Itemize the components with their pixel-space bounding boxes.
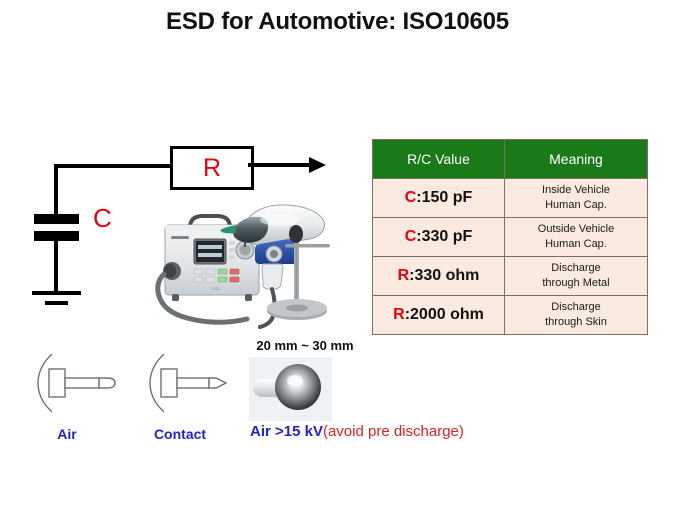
pre-discharge-note: (avoid pre discharge)	[323, 423, 464, 440]
rc-value-table: R/C Value Meaning C:150 pF Inside Vehicl…	[372, 139, 648, 335]
meaning-cell: Inside Vehicle Human Cap.	[505, 179, 648, 218]
meaning-line-1: Inside Vehicle	[505, 183, 647, 198]
meaning-cell: Discharge through Skin	[505, 296, 648, 335]
meaning-line-2: Human Cap.	[505, 237, 647, 252]
rc-value: :150 pF	[416, 189, 472, 206]
rc-value-cell: R:2000 ohm	[373, 296, 505, 335]
wire-top-left	[54, 164, 172, 168]
contact-discharge-label: Contact	[140, 426, 220, 442]
table-row: R:2000 ohm Discharge through Skin	[373, 296, 648, 335]
slide-canvas: ESD for Automotive: ISO10605 C R	[0, 0, 675, 506]
column-header-meaning: Meaning	[505, 140, 648, 179]
contact-discharge-tip	[140, 352, 240, 414]
sphere-dimension-label: 20 mm ~ 30 mm	[240, 338, 370, 353]
table-row: C:150 pF Inside Vehicle Human Cap.	[373, 179, 648, 218]
page-title: ESD for Automotive: ISO10605	[0, 8, 675, 36]
rc-value: :2000 ohm	[405, 306, 484, 323]
rc-value-cell: C:330 pF	[373, 218, 505, 257]
resistor-box: R	[170, 146, 254, 190]
meaning-line-2: through Skin	[505, 315, 647, 330]
meaning-line-2: Human Cap.	[505, 198, 647, 213]
capacitor-plate-top	[34, 214, 79, 224]
svg-text:ESD: ESD	[212, 286, 220, 291]
sphere-tip-photo	[249, 357, 332, 421]
meaning-line-2: through Metal	[505, 276, 647, 291]
meaning-cell: Discharge through Metal	[505, 257, 648, 296]
output-arrow-icon	[309, 157, 326, 173]
ground-bar-narrow	[45, 301, 68, 305]
air-discharge-label: Air	[27, 426, 107, 442]
meaning-cell: Outside Vehicle Human Cap.	[505, 218, 648, 257]
rc-prefix: R	[398, 267, 410, 284]
air-discharge-tip	[28, 352, 128, 414]
capacitor-label: C	[93, 205, 112, 231]
air-voltage-label: Air >15 kV	[250, 423, 323, 440]
meaning-line-1: Discharge	[505, 300, 647, 315]
meaning-line-1: Outside Vehicle	[505, 222, 647, 237]
rc-prefix: R	[393, 306, 405, 323]
capacitor-plate-bottom	[34, 231, 79, 241]
wire-vertical-upper	[54, 164, 58, 218]
column-header-rc-value: R/C Value	[373, 140, 505, 179]
esd-simulator-photo: ESD ESD	[150, 198, 340, 333]
ground-bar-wide	[32, 291, 81, 295]
table-row: R:330 ohm Discharge through Metal	[373, 257, 648, 296]
rc-value-cell: C:150 pF	[373, 179, 505, 218]
rc-prefix: C	[405, 189, 417, 206]
rc-value: :330 pF	[416, 228, 472, 245]
wire-vertical-lower	[54, 241, 58, 292]
rc-value: :330 ohm	[409, 267, 479, 284]
air-voltage-note: Air >15 kV(avoid pre discharge)	[250, 424, 464, 439]
rc-prefix: C	[405, 228, 417, 245]
resistor-label: R	[203, 156, 221, 181]
meaning-line-1: Discharge	[505, 261, 647, 276]
wire-top-right	[248, 163, 311, 167]
rc-value-cell: R:330 ohm	[373, 257, 505, 296]
table-row: C:330 pF Outside Vehicle Human Cap.	[373, 218, 648, 257]
table-header-row: R/C Value Meaning	[373, 140, 648, 179]
